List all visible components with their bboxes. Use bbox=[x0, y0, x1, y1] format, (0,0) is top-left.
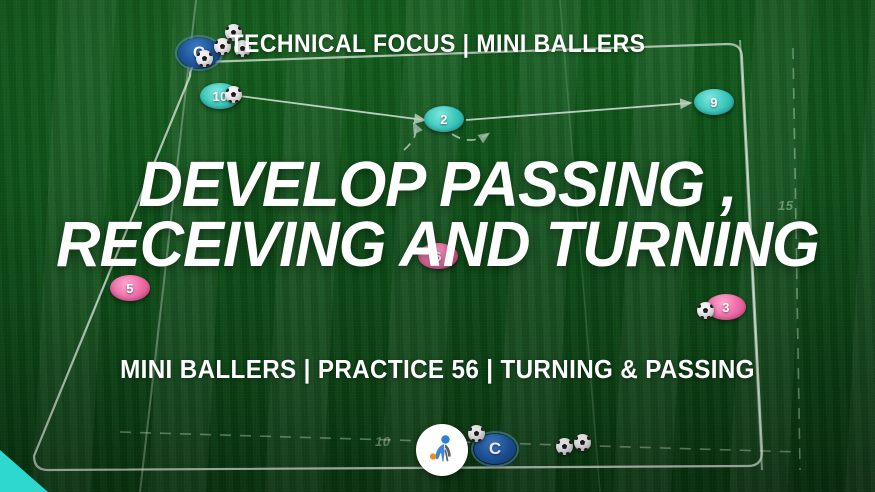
eyebrow-text: TECHNICAL FOCUS | MINI BALLERS bbox=[35, 30, 840, 59]
presentation-slide: C 10 2 9 5 6 3 C 15 10 bbox=[0, 0, 875, 492]
subline-text: MINI BALLERS | PRACTICE 56 | TURNING & P… bbox=[31, 354, 845, 385]
headline-line-2: RECEIVING AND TURNING bbox=[18, 215, 858, 275]
coach-player-logo bbox=[416, 424, 468, 476]
logo-figure-icon bbox=[423, 431, 461, 469]
headline: DEVELOP PASSING , RECEIVING AND TURNING bbox=[18, 155, 858, 274]
